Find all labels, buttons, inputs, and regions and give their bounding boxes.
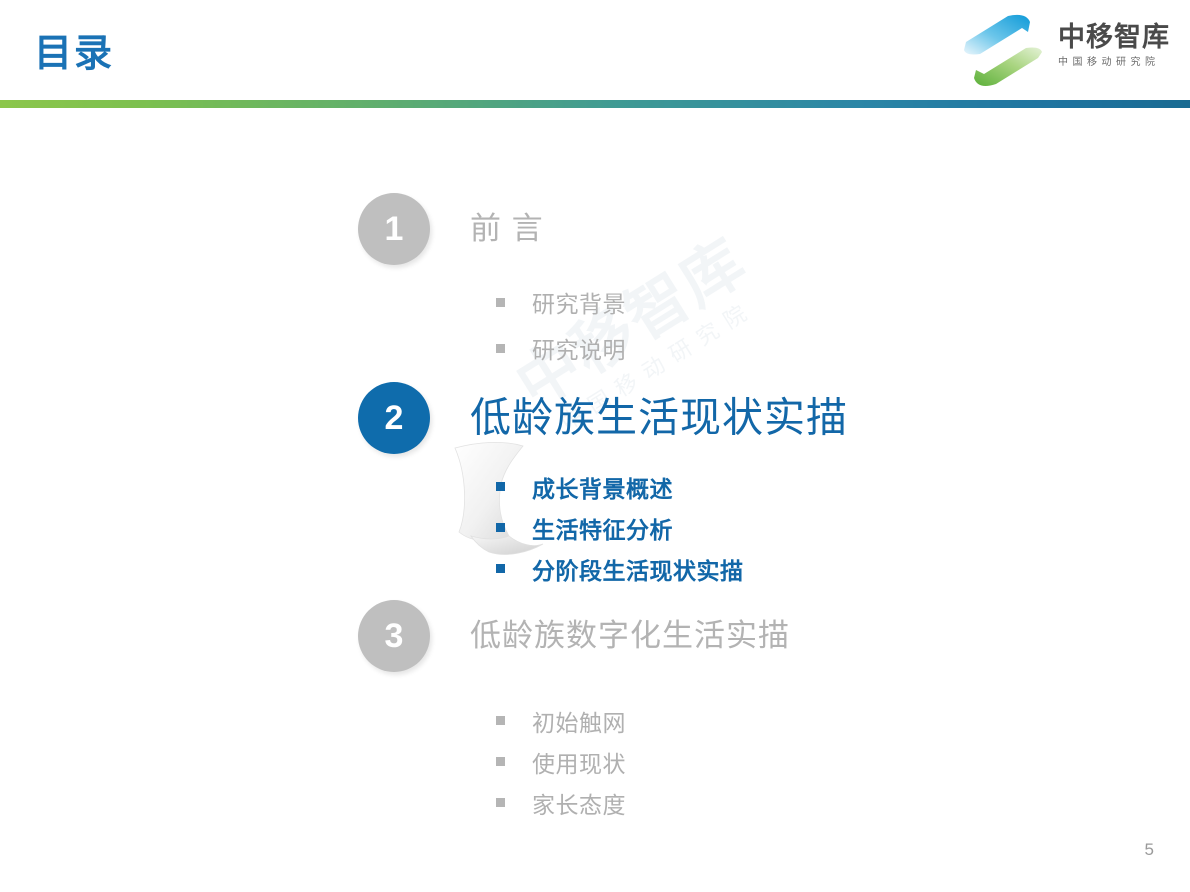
header-gradient-rule xyxy=(0,100,1190,108)
toc-section-3-title: 低龄族数字化生活实描 xyxy=(470,619,790,653)
list-item-label: 初始触网 xyxy=(532,704,626,738)
toc-section-3-number: 3 xyxy=(358,600,430,672)
square-bullet-icon xyxy=(496,798,505,807)
logo-subtitle: 中国移动研究院 xyxy=(1058,57,1184,69)
toc-section-1-items: 研究背景 研究说明 xyxy=(496,279,626,371)
toc-section-2-header[interactable]: 2 低龄族生活现状实描 xyxy=(358,382,744,454)
logo-text: 中移智库 中国移动研究院 xyxy=(1058,22,1184,69)
list-item-label: 家长态度 xyxy=(532,786,626,820)
page-title: 目录 xyxy=(34,30,114,78)
square-bullet-icon xyxy=(496,564,505,573)
square-bullet-icon xyxy=(496,344,505,353)
list-item[interactable]: 研究背景 xyxy=(496,279,626,325)
list-item[interactable]: 使用现状 xyxy=(496,741,626,782)
list-item-label: 分阶段生活现状实描 xyxy=(532,552,744,586)
toc-section-3[interactable]: 3 低龄族数字化生活实描 初始触网 使用现状 家长态度 xyxy=(358,600,626,823)
page-number: 5 xyxy=(1145,840,1154,860)
list-item[interactable]: 研究说明 xyxy=(496,325,626,371)
toc-section-2-number: 2 xyxy=(358,382,430,454)
list-item[interactable]: 家长态度 xyxy=(496,782,626,823)
toc-section-1-title: 前 言 xyxy=(470,212,544,246)
list-item-label: 研究说明 xyxy=(532,331,626,365)
toc-section-2-items: 成长背景概述 生活特征分析 分阶段生活现状实描 xyxy=(496,466,744,589)
toc-section-1-number: 1 xyxy=(358,193,430,265)
brand-logo: 中移智库 中国移动研究院 xyxy=(950,8,1180,93)
list-item[interactable]: 成长背景概述 xyxy=(496,466,744,507)
toc-section-1[interactable]: 1 前 言 研究背景 研究说明 xyxy=(358,193,626,371)
zhiku-s-mark-icon xyxy=(958,12,1046,92)
logo-name: 中移智库 xyxy=(1058,22,1184,52)
toc-section-2[interactable]: 2 低龄族生活现状实描 成长背景概述 生活特征分析 分阶段生活现状实描 xyxy=(358,382,744,589)
toc-section-3-header[interactable]: 3 低龄族数字化生活实描 xyxy=(358,600,626,672)
list-item-label: 研究背景 xyxy=(532,285,626,319)
list-item-label: 生活特征分析 xyxy=(532,511,673,545)
list-item[interactable]: 分阶段生活现状实描 xyxy=(496,548,744,589)
square-bullet-icon xyxy=(496,482,505,491)
toc-section-1-header[interactable]: 1 前 言 xyxy=(358,193,626,265)
toc-section-3-items: 初始触网 使用现状 家长态度 xyxy=(496,700,626,823)
square-bullet-icon xyxy=(496,298,505,307)
list-item[interactable]: 初始触网 xyxy=(496,700,626,741)
list-item-label: 使用现状 xyxy=(532,745,626,779)
square-bullet-icon xyxy=(496,757,505,766)
list-item[interactable]: 生活特征分析 xyxy=(496,507,744,548)
square-bullet-icon xyxy=(496,523,505,532)
square-bullet-icon xyxy=(496,716,505,725)
slide-header: 目录 xyxy=(0,0,1190,108)
table-of-contents: 1 前 言 研究背景 研究说明 2 低龄族生活现状实描 成长背景概述 xyxy=(0,108,1190,848)
list-item-label: 成长背景概述 xyxy=(532,470,673,504)
toc-section-2-title: 低龄族生活现状实描 xyxy=(470,395,848,440)
